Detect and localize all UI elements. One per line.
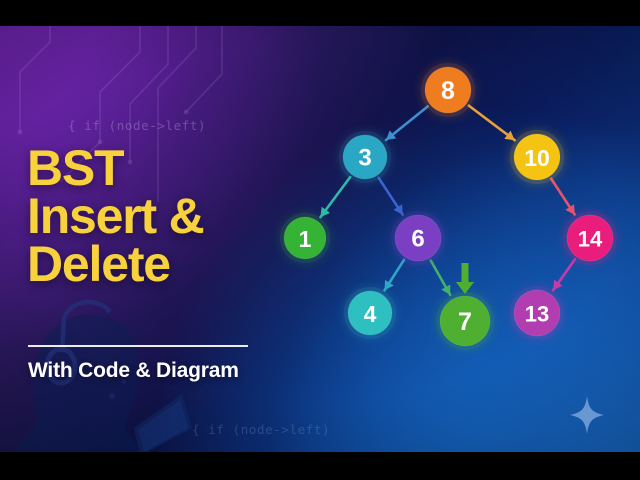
node-label-3: 3 — [358, 145, 371, 172]
tree-node-7[interactable]: 7 — [436, 292, 494, 350]
tree-node-layer: 831016144713 — [280, 63, 617, 350]
node-label-1: 1 — [299, 226, 312, 252]
tree-node-1[interactable]: 1 — [280, 213, 330, 263]
tree-edge-8-left-3 — [386, 106, 428, 140]
tree-node-3[interactable]: 3 — [339, 131, 391, 183]
letterbox-top — [0, 0, 640, 26]
tree-edge-10-right-14 — [551, 179, 574, 215]
tree-edge-3-right-6 — [379, 178, 403, 215]
letterbox-bottom — [0, 452, 640, 480]
tree-node-13[interactable]: 13 — [510, 286, 564, 340]
sparkle-icon — [570, 396, 604, 434]
node-label-10: 10 — [524, 145, 550, 171]
node-label-8: 8 — [441, 77, 455, 105]
node-label-13: 13 — [525, 302, 549, 327]
binary-search-tree-diagram: 831016144713 — [0, 26, 640, 452]
tree-insert-arrow-layer — [456, 263, 474, 294]
tree-node-4[interactable]: 4 — [344, 287, 396, 339]
thumbnail-canvas: { if (node->left) { if (node->left) BST … — [0, 0, 640, 480]
tree-node-6[interactable]: 6 — [391, 211, 445, 265]
tree-edge-6-right-7 — [431, 261, 450, 295]
tree-node-8[interactable]: 8 — [421, 63, 475, 117]
tree-node-14[interactable]: 14 — [563, 211, 617, 265]
node-label-6: 6 — [411, 226, 424, 253]
node-label-4: 4 — [364, 301, 377, 327]
tree-edge-6-left-4 — [385, 260, 404, 290]
tree-edge-14-left-13 — [553, 259, 575, 290]
insert-arrow-icon — [456, 263, 474, 294]
tree-edge-8-right-10 — [469, 106, 515, 141]
tree-edge-3-left-1 — [320, 177, 350, 217]
tree-node-10[interactable]: 10 — [510, 130, 564, 184]
node-label-14: 14 — [578, 227, 603, 252]
artwork-area: { if (node->left) { if (node->left) BST … — [0, 26, 640, 452]
node-label-7: 7 — [458, 308, 472, 336]
